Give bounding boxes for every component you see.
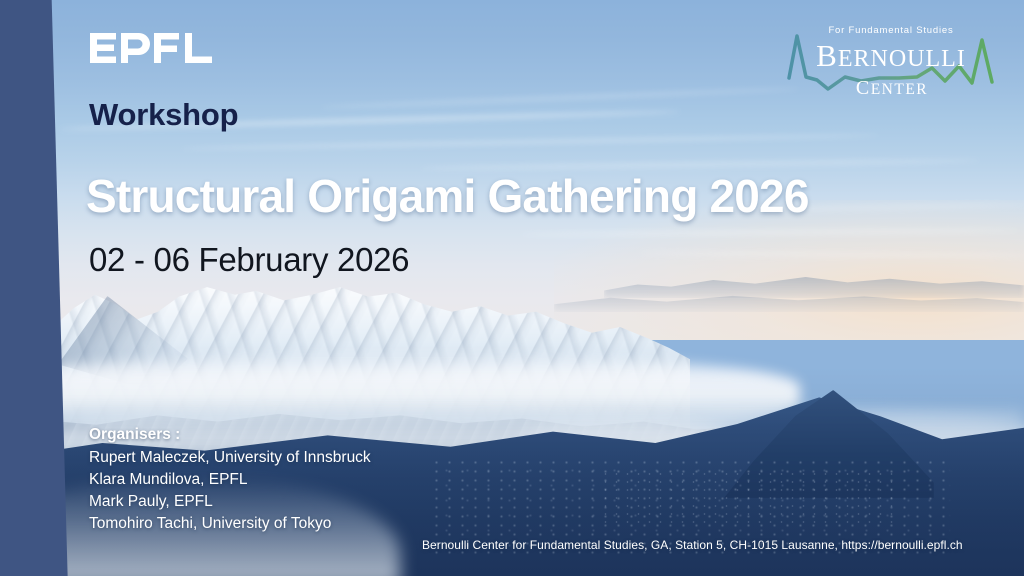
- svg-text:CENTER: CENTER: [856, 77, 928, 99]
- organiser-item: Rupert Maleczek, University of Innsbruck: [89, 447, 371, 469]
- event-dates: 02 - 06 February 2026: [89, 243, 409, 276]
- poster-content: For Fundamental Studies BERNOULLI CENTER…: [0, 0, 1024, 576]
- organiser-item: Mark Pauly, EPFL: [89, 491, 371, 513]
- organiser-item: Tomohiro Tachi, University of Tokyo: [89, 513, 371, 535]
- event-poster: For Fundamental Studies BERNOULLI CENTER…: [0, 0, 1024, 576]
- bernoulli-center-logo: For Fundamental Studies BERNOULLI CENTER: [786, 18, 996, 102]
- organiser-item: Klara Mundilova, EPFL: [89, 469, 371, 491]
- page-title: Structural Origami Gathering 2026: [86, 172, 809, 221]
- epfl-logo: [90, 30, 212, 68]
- svg-text:BERNOULLI: BERNOULLI: [816, 38, 966, 73]
- footer-address: Bernoulli Center for Fundamental Studies…: [422, 538, 963, 552]
- organisers-heading: Organisers :: [89, 424, 371, 446]
- organisers-block: Organisers : Rupert Maleczek, University…: [89, 424, 371, 535]
- svg-text:For Fundamental Studies: For Fundamental Studies: [828, 25, 953, 36]
- workshop-kicker: Workshop: [89, 99, 238, 130]
